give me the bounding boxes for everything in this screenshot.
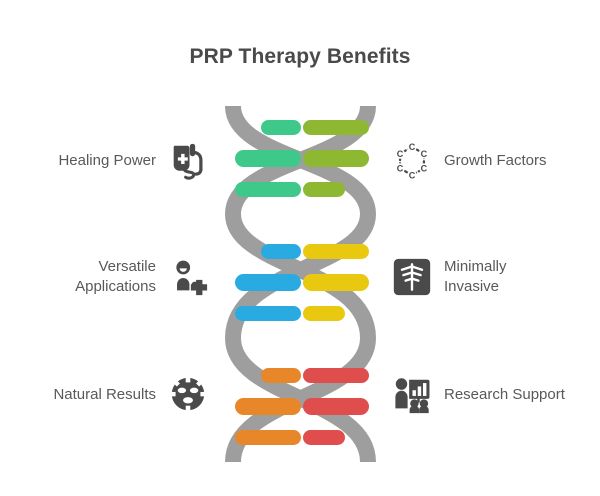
- rung-left: [235, 150, 301, 167]
- benefit-healing-power: Healing Power: [14, 130, 210, 192]
- svg-text:C: C: [397, 149, 404, 159]
- rung-right: [303, 306, 345, 321]
- rung-left: [235, 274, 301, 291]
- prp-therapy-benefits-infographic: PRP Therapy Benefits: [0, 0, 600, 496]
- rung-left: [235, 398, 301, 415]
- svg-text:C: C: [409, 171, 416, 181]
- molecule-ring-icon: C C C C C C: [390, 139, 434, 183]
- page-title: PRP Therapy Benefits: [0, 45, 600, 69]
- rung-right: [303, 274, 369, 291]
- rung-right: [303, 150, 369, 167]
- dna-double-helix: [213, 98, 388, 470]
- benefit-minimally-invasive: MinimallyInvasive: [390, 246, 588, 308]
- benefit-growth-factors: C C C C C C Growth Factors: [390, 130, 588, 192]
- benefit-label: Growth Factors: [434, 151, 547, 171]
- rung-left: [235, 430, 301, 445]
- rung-right: [303, 430, 345, 445]
- person-plus-icon: [166, 255, 210, 299]
- benefit-label: Natural Results: [53, 385, 166, 405]
- face-mask-icon: [166, 373, 210, 417]
- rung-left: [261, 368, 301, 383]
- benefit-label: VersatileApplications: [75, 257, 166, 297]
- svg-text:C: C: [397, 164, 404, 174]
- research-presentation-icon: [390, 373, 434, 417]
- rung-right: [303, 120, 369, 135]
- rung-right: [303, 182, 345, 197]
- rung-right: [303, 368, 369, 383]
- benefit-versatile-applications: VersatileApplications: [14, 246, 210, 308]
- rung-right: [303, 398, 369, 415]
- benefit-natural-results: Natural Results: [14, 364, 210, 426]
- rung-right: [303, 244, 369, 259]
- rung-left: [261, 120, 301, 135]
- rung-left: [235, 182, 301, 197]
- benefit-research-support: Research Support: [390, 364, 588, 426]
- rung-left: [261, 244, 301, 259]
- benefit-label: MinimallyInvasive: [434, 257, 507, 297]
- healing-hand-icon: [166, 139, 210, 183]
- svg-text:C: C: [421, 164, 428, 174]
- benefit-label: Healing Power: [58, 151, 166, 171]
- benefit-label: Research Support: [434, 385, 565, 405]
- needle-badge-icon: [390, 255, 434, 299]
- svg-text:C: C: [409, 142, 416, 152]
- svg-text:C: C: [421, 149, 428, 159]
- rung-left: [235, 306, 301, 321]
